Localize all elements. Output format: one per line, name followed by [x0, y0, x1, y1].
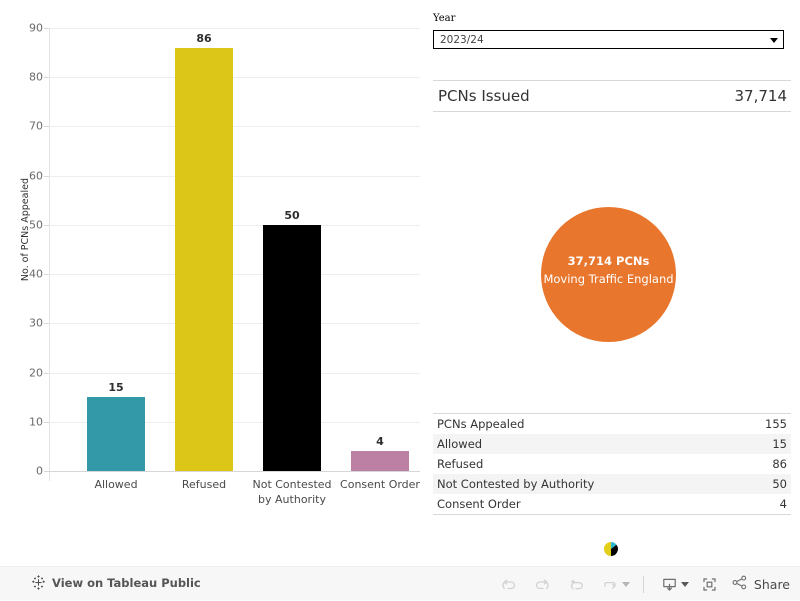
y-tick-mark	[44, 126, 49, 127]
gridline-50	[49, 225, 420, 226]
toolbar-divider	[643, 576, 644, 593]
pcns-issued-value: 37,714	[735, 87, 788, 105]
y-tick-label: 30	[5, 317, 43, 330]
y-tick-mark	[44, 323, 49, 324]
undo-button[interactable]	[492, 570, 526, 598]
stat-label: Consent Order	[433, 494, 736, 514]
bar-chart-panel: No. of PCNs Appealed 90 80 70 60 50 40 3…	[0, 0, 425, 566]
x-tick-label-not-contested: Not Contested by Authority	[247, 477, 337, 507]
stat-value: 50	[736, 474, 791, 494]
pcns-issued-label: PCNs Issued	[438, 87, 530, 105]
y-axis-line	[49, 28, 50, 481]
view-on-tableau-public-label: View on Tableau Public	[52, 576, 201, 590]
y-tick-label: 60	[5, 170, 43, 183]
y-tick-label: 10	[5, 416, 43, 429]
table-row[interactable]: Not Contested by Authority 50	[433, 474, 791, 494]
stat-label: Allowed	[433, 434, 736, 454]
gridline-60	[49, 176, 420, 177]
share-button[interactable]: Share	[727, 574, 790, 594]
pcns-issued-kpi: PCNs Issued 37,714	[433, 80, 791, 112]
y-tick-label: 80	[5, 71, 43, 84]
y-tick-mark	[44, 373, 49, 374]
chevron-down-icon[interactable]	[770, 38, 778, 43]
y-tick-mark	[44, 28, 49, 29]
gridline-40	[49, 274, 420, 275]
pcns-bubble[interactable]: 37,714 PCNs Moving Traffic England	[541, 207, 676, 342]
tableau-logo-icon	[31, 575, 46, 590]
revert-button[interactable]	[560, 570, 594, 598]
y-tick-mark	[44, 471, 49, 472]
y-tick-label: 50	[5, 219, 43, 232]
x-tick-line1: Consent Order	[335, 477, 425, 492]
view-on-tableau-public-link[interactable]: View on Tableau Public	[31, 575, 201, 590]
x-tick-label-refused: Refused	[159, 477, 249, 492]
y-tick-mark	[44, 77, 49, 78]
stat-label: Refused	[433, 454, 736, 474]
stat-value: 15	[736, 434, 791, 454]
stats-table-bottom-rule	[433, 514, 791, 515]
bar-chart-plot-area: 90 80 70 60 50 40 30 20 10 0	[49, 18, 420, 472]
redo-button[interactable]	[526, 570, 560, 598]
stat-value: 4	[736, 494, 791, 514]
table-row[interactable]: Allowed 15	[433, 434, 791, 454]
pause-updates-dropdown[interactable]	[622, 582, 630, 587]
stats-table: PCNs Appealed 155 Allowed 15 Refused 86 …	[433, 414, 791, 514]
x-tick-label-allowed: Allowed	[71, 477, 161, 492]
y-tick-label: 0	[5, 465, 43, 478]
gridline-80	[49, 77, 420, 78]
stat-label: Not Contested by Authority	[433, 474, 736, 494]
bar-not-contested[interactable]	[263, 225, 321, 471]
gridline-70	[49, 126, 420, 127]
x-tick-line1: Not Contested	[247, 477, 337, 492]
bubble-primary-label: 37,714 PCNs	[541, 254, 676, 268]
bar-value-label: 50	[263, 209, 321, 222]
bar-consent-order[interactable]	[351, 451, 409, 471]
share-icon	[731, 574, 748, 594]
x-tick-label-consent-order: Consent Order	[335, 477, 425, 492]
toolbar-buttons: Share	[492, 567, 790, 601]
gridline-90	[49, 28, 420, 29]
year-filter-dropdown[interactable]: 2023/24	[433, 30, 784, 49]
table-row[interactable]: Consent Order 4	[433, 494, 791, 514]
y-tick-label: 40	[5, 268, 43, 281]
year-filter-value: 2023/24	[440, 34, 484, 46]
stat-value: 86	[736, 454, 791, 474]
x-axis-baseline	[49, 471, 420, 472]
bubble-secondary-label: Moving Traffic England	[541, 272, 676, 286]
bar-refused[interactable]	[175, 48, 233, 471]
table-row[interactable]: Refused 86	[433, 454, 791, 474]
stat-value: 155	[736, 414, 791, 434]
y-tick-mark	[44, 274, 49, 275]
table-row[interactable]: PCNs Appealed 155	[433, 414, 791, 434]
year-filter-label: Year	[433, 13, 455, 24]
pie-chart-icon	[604, 541, 618, 555]
y-tick-mark	[44, 176, 49, 177]
bar-allowed[interactable]	[87, 397, 145, 471]
bar-value-label: 86	[175, 32, 233, 45]
bar-value-label: 4	[351, 435, 409, 448]
x-tick-line2: by Authority	[247, 492, 337, 507]
gridline-30	[49, 323, 420, 324]
tableau-viz-container: No. of PCNs Appealed 90 80 70 60 50 40 3…	[0, 0, 800, 566]
fullscreen-button[interactable]	[693, 570, 727, 598]
share-label: Share	[754, 577, 790, 592]
x-tick-line1: Allowed	[71, 477, 161, 492]
y-tick-label: 70	[5, 120, 43, 133]
x-tick-line1: Refused	[159, 477, 249, 492]
stat-label: PCNs Appealed	[433, 414, 736, 434]
y-tick-mark	[44, 422, 49, 423]
gridline-20	[49, 373, 420, 374]
bar-value-label: 15	[87, 381, 145, 394]
y-tick-label: 90	[5, 22, 43, 35]
download-dropdown[interactable]	[681, 582, 689, 587]
y-tick-mark	[44, 225, 49, 226]
side-panel: Year 2023/24 PCNs Issued 37,714 37,714 P…	[425, 0, 800, 566]
tableau-toolbar: View on Tableau Public	[0, 566, 800, 600]
y-tick-label: 20	[5, 367, 43, 380]
